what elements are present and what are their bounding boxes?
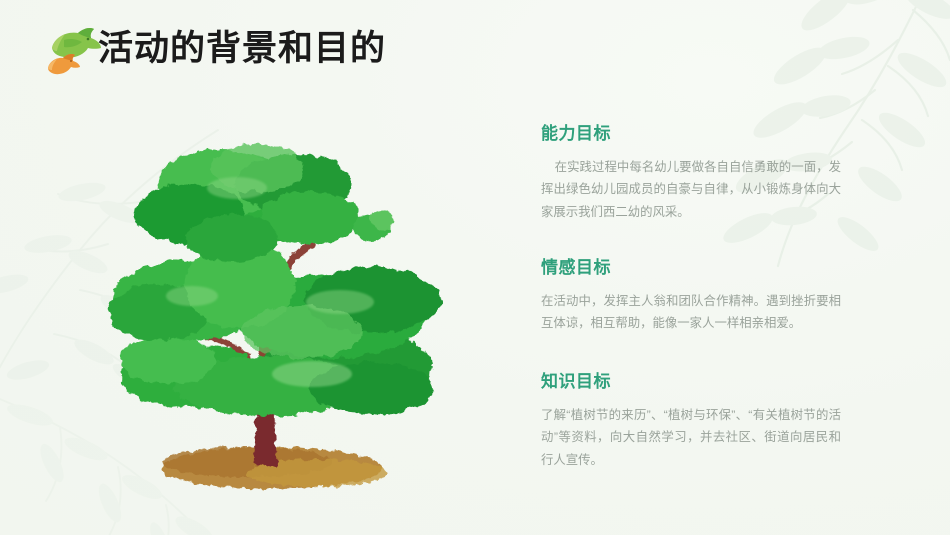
goal-section-emotion: 情感目标 在活动中，发挥主人翁和团队合作精神。遇到挫折要相互体谅，相互帮助，能像… [541,258,861,335]
section-title-emotion: 情感目标 [541,258,861,278]
orange-bird-icon [48,54,80,74]
goal-section-knowledge: 知识目标 了解“植树节的来历”、“植树与环保”、“有关植树节的活动”等资料，向大… [541,372,861,471]
section-title-knowledge: 知识目标 [541,372,861,392]
slide-header: 活动的背景和目的 [0,0,950,92]
section-body-knowledge: 了解“植树节的来历”、“植树与环保”、“有关植树节的活动”等资料，向大自然学习，… [541,404,841,470]
page-title: 活动的背景和目的 [98,27,386,71]
section-body-ability: 在实践过程中每名幼儿要做各自自信勇敢的一面，发挥出绿色幼儿园成员的自豪与自律，从… [541,156,841,222]
foliage-upper [134,144,394,262]
goal-section-ability: 能力目标 在实践过程中每名幼儿要做各自自信勇敢的一面，发挥出绿色幼儿园成员的自豪… [541,124,861,223]
green-bird-icon [52,28,101,57]
watercolor-tree-illustration [72,88,472,498]
section-title-ability: 能力目标 [541,124,861,144]
bird-logo-group [44,22,106,78]
slide-root: 活动的背景和目的 [0,0,950,535]
section-body-emotion: 在活动中，发挥主人翁和团队合作精神。遇到挫折要相互体谅，相互帮助，能像一家人一样… [541,290,841,334]
